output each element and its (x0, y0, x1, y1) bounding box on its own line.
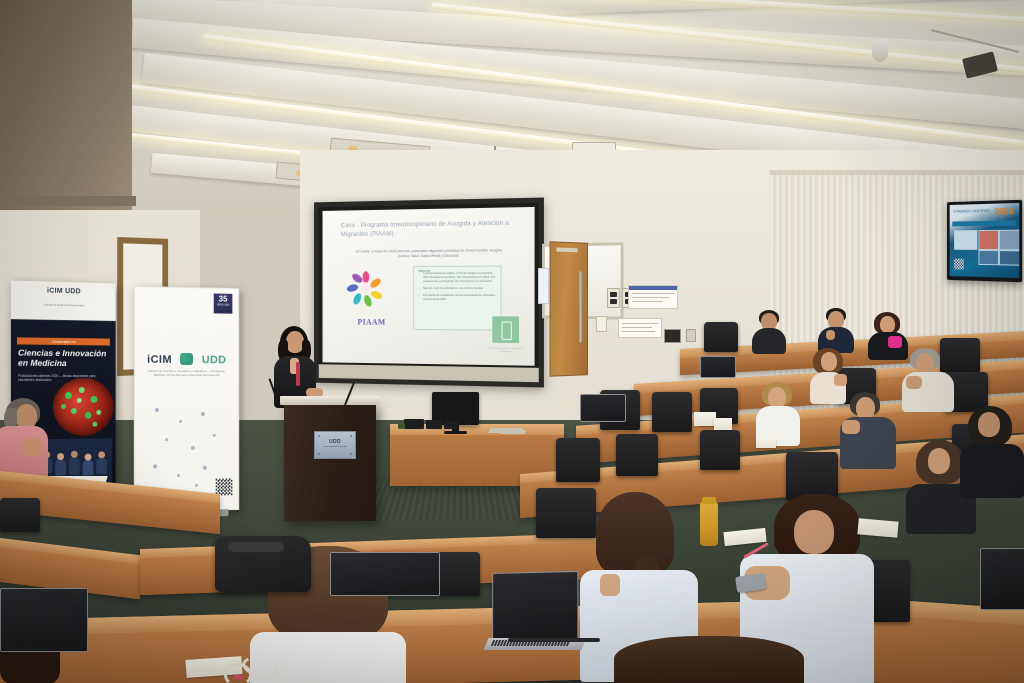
slide-bullet: Formación de estudiantes de Intercultura… (423, 294, 497, 302)
security-camera-icon (872, 40, 888, 62)
chair[interactable] (786, 452, 838, 500)
backpack-strap (228, 542, 284, 552)
banner-right-udd-logo: UDD (202, 354, 227, 366)
wall-trim (770, 170, 1024, 175)
wall-outlet-panel (686, 329, 696, 342)
attendee (752, 310, 786, 352)
podium-top-surface (280, 396, 380, 405)
slide-institution-logo-icon (492, 317, 519, 344)
laptop-screen[interactable] (492, 571, 578, 643)
piaam-logo-text: PIAAM (339, 317, 405, 326)
wall-info-sign (618, 318, 662, 338)
projection-screen-frame-bottom (319, 364, 539, 382)
papers (694, 412, 716, 426)
chair[interactable] (700, 430, 740, 470)
slide-impact-box: IMPACTO 1.674 prestaciones totales: 1.07… (413, 266, 501, 331)
av-equipment (426, 420, 442, 429)
stethoscope[interactable] (224, 655, 280, 681)
tv-logo-text: CONGRESO CIENTÍFICO (953, 209, 989, 214)
attendee-shirt-print (888, 336, 902, 348)
thermostat[interactable] (664, 329, 681, 343)
piaam-logo-icon (345, 271, 399, 323)
podium: UDD Universidad del Desarrollo (284, 403, 376, 521)
slide-title: Caso - Programa Interdisciplinario de Ac… (341, 218, 515, 239)
attendee-hair-side (4, 408, 17, 428)
laptop-screen[interactable] (580, 394, 626, 422)
light-switch[interactable] (607, 288, 620, 308)
chair[interactable] (0, 498, 40, 532)
podium-plate-logo: UDD (315, 439, 355, 445)
chair[interactable] (616, 434, 658, 476)
tv-qr-code-icon (954, 259, 964, 270)
remote-control[interactable] (499, 430, 527, 434)
side-door[interactable] (550, 241, 588, 376)
tv-year-text: 2026 (994, 206, 1013, 217)
av-equipment (444, 421, 458, 429)
water-bottle[interactable] (700, 502, 718, 546)
presenter-lanyard (296, 362, 300, 386)
attendee-ear (600, 574, 620, 596)
slide-bullet: Más de 1 año de actividad en una Clínica… (423, 287, 497, 291)
banner-right-icim-logo: iCIM (147, 354, 172, 366)
banner-left-cell-graphic (53, 378, 114, 436)
wall-sensor (596, 316, 607, 332)
papers (756, 438, 776, 448)
door-handle[interactable] (580, 271, 583, 343)
banner-left-tagline: Doctorado en (17, 337, 110, 345)
attendee-hands (24, 438, 42, 456)
projection-screen: Caso - Programa Interdisciplinario de Ac… (314, 198, 544, 388)
banner-left-subtitle: Postulaciones abiertas 2026 — Becas disp… (18, 374, 109, 383)
attendee (902, 348, 954, 410)
attendee-foreground-bottom (614, 636, 804, 683)
attendee (756, 382, 800, 444)
papers (857, 518, 898, 537)
slide-subtitle: El Comité, a través de colaboraciones, a… (351, 248, 508, 259)
slide-bullet: 1.674 prestaciones totales: 1.074 de aco… (423, 272, 497, 284)
cable-connector (398, 423, 405, 429)
av-equipment (404, 419, 424, 429)
wall-notice-small (538, 268, 549, 304)
banner-right-anniversary-badge: 35 AÑOS UDD (214, 293, 233, 313)
projection-screen-surface: Caso - Programa Interdisciplinario de Ac… (323, 207, 535, 366)
podium-logo-plate: UDD Universidad del Desarrollo (314, 431, 356, 459)
banner-right-molecule-icon (180, 353, 193, 365)
tv-screen: CONGRESO CIENTÍFICO 2026 (950, 203, 1020, 278)
bottle-cap[interactable] (702, 497, 716, 504)
wall-instruction-sign (628, 285, 678, 309)
banner-right-subtitle: Instituto de Ciencias e Innovación en Me… (145, 370, 229, 378)
laptop-screen[interactable] (700, 356, 736, 378)
laptop-screen[interactable] (0, 588, 88, 652)
banner-right-logos: iCIM UDD (135, 350, 238, 369)
lecture-hall-photograph: Caso - Programa Interdisciplinario de Ac… (0, 0, 1024, 683)
cable (508, 638, 600, 642)
door-plate (556, 248, 577, 253)
wall-left-trim (0, 196, 136, 206)
slide-logo-caption: Instituto de Ciencias e Innovación en Me… (489, 348, 524, 355)
papers (714, 418, 732, 430)
laptop-screen[interactable] (330, 552, 440, 596)
laptop-screen[interactable] (980, 548, 1024, 610)
chair[interactable] (704, 322, 738, 352)
podium-plate-caption: Universidad del Desarrollo (315, 446, 355, 448)
chair[interactable] (556, 438, 600, 482)
chair[interactable] (652, 392, 692, 432)
monitor-base (444, 431, 467, 434)
banner-left-title: Ciencias e Innovación en Medicina (18, 347, 111, 368)
attendee (960, 406, 1024, 494)
attendee (840, 392, 896, 466)
banner-left-logos: iCIM UDD (11, 287, 116, 297)
wall-mounted-tv: CONGRESO CIENTÍFICO 2026 (947, 200, 1022, 283)
banner-icim-udd: 35 AÑOS UDD iCIM UDD Instituto de Cienci… (134, 286, 239, 512)
attendee (818, 308, 854, 352)
